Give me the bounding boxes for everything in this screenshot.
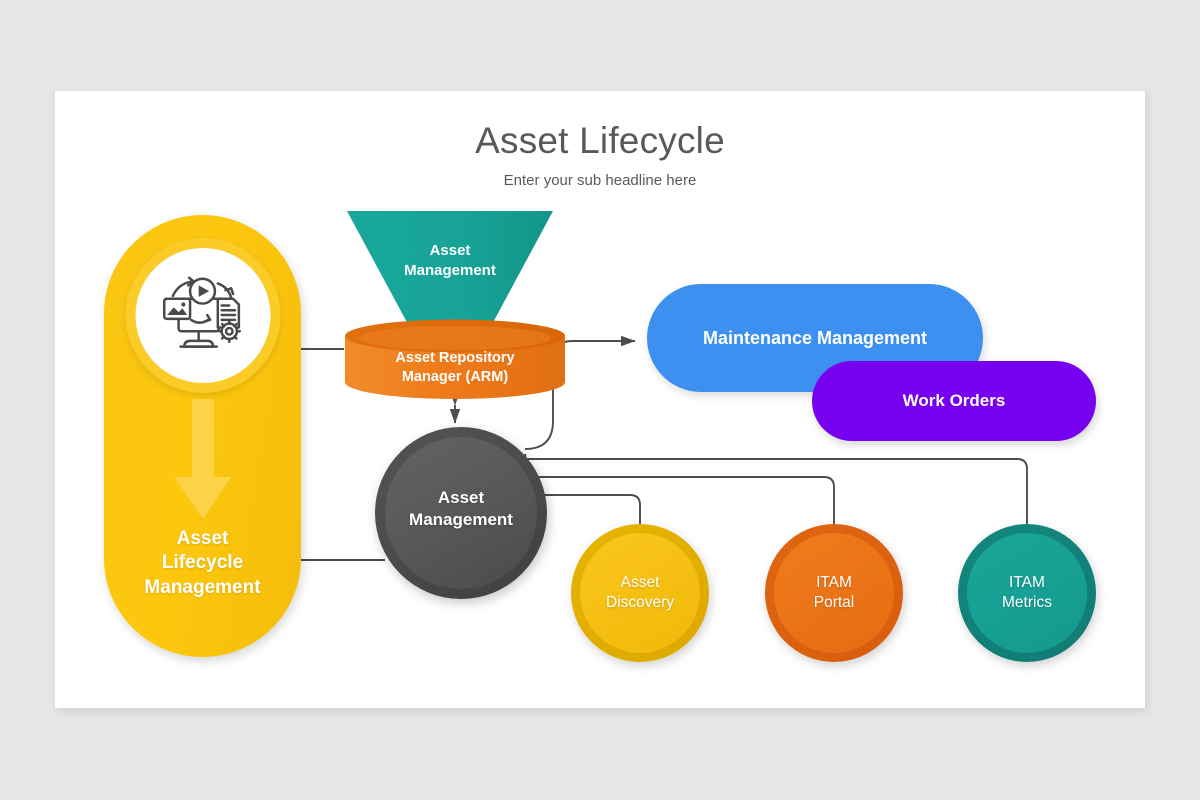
leaf-1-line-1: ITAM: [814, 573, 855, 593]
wire-itam-portal-to-asset-management: [512, 477, 834, 531]
funnel-line-1: Asset: [345, 241, 555, 261]
asset-lifecycle-management-label: Asset Lifecycle Management: [104, 527, 301, 600]
icon-disc: [135, 248, 270, 383]
asset-management-label: Asset Management: [375, 487, 547, 531]
asset-repository-manager-label: Asset Repository Manager (ARM): [344, 349, 566, 386]
maintenance-management-label: Maintenance Management: [703, 328, 927, 349]
alm-line-3: Management: [104, 576, 301, 600]
funnel-line-2: Management: [345, 261, 555, 281]
leaf-2-line-2: Metrics: [1002, 593, 1052, 613]
itam-metrics-label: ITAM Metrics: [958, 524, 1096, 662]
itam-portal-label: ITAM Portal: [765, 524, 903, 662]
work-orders-label: Work Orders: [903, 391, 1006, 411]
alm-line-2: Lifecycle: [104, 551, 301, 575]
slide-canvas: Asset Lifecycle Enter your sub headline …: [0, 0, 1200, 800]
alm-line-1: Asset: [104, 527, 301, 551]
asset-discovery-circle[interactable]: Asset Discovery: [571, 524, 709, 662]
leaf-2-line-1: ITAM: [1002, 573, 1052, 593]
leaf-0-line-2: Discovery: [606, 593, 674, 613]
asset-lifecycle-management-pill[interactable]: Asset Lifecycle Management: [104, 215, 301, 657]
funnel-label: Asset Management: [345, 241, 555, 280]
leaf-1-line-2: Portal: [814, 593, 855, 613]
am-line-2: Management: [375, 509, 547, 531]
itam-metrics-circle[interactable]: ITAM Metrics: [958, 524, 1096, 662]
work-orders-pill[interactable]: Work Orders: [812, 361, 1096, 441]
leaf-0-line-1: Asset: [606, 573, 674, 593]
arm-line-2: Manager (ARM): [344, 368, 566, 387]
content-management-icon: [155, 272, 251, 360]
asset-management-circle[interactable]: Asset Management: [375, 427, 547, 599]
slide-card: Asset Lifecycle Enter your sub headline …: [55, 91, 1145, 708]
down-arrow-icon: [168, 399, 238, 521]
am-line-1: Asset: [375, 487, 547, 509]
asset-discovery-label: Asset Discovery: [571, 524, 709, 662]
arm-line-1: Asset Repository: [344, 349, 566, 368]
itam-portal-circle[interactable]: ITAM Portal: [765, 524, 903, 662]
